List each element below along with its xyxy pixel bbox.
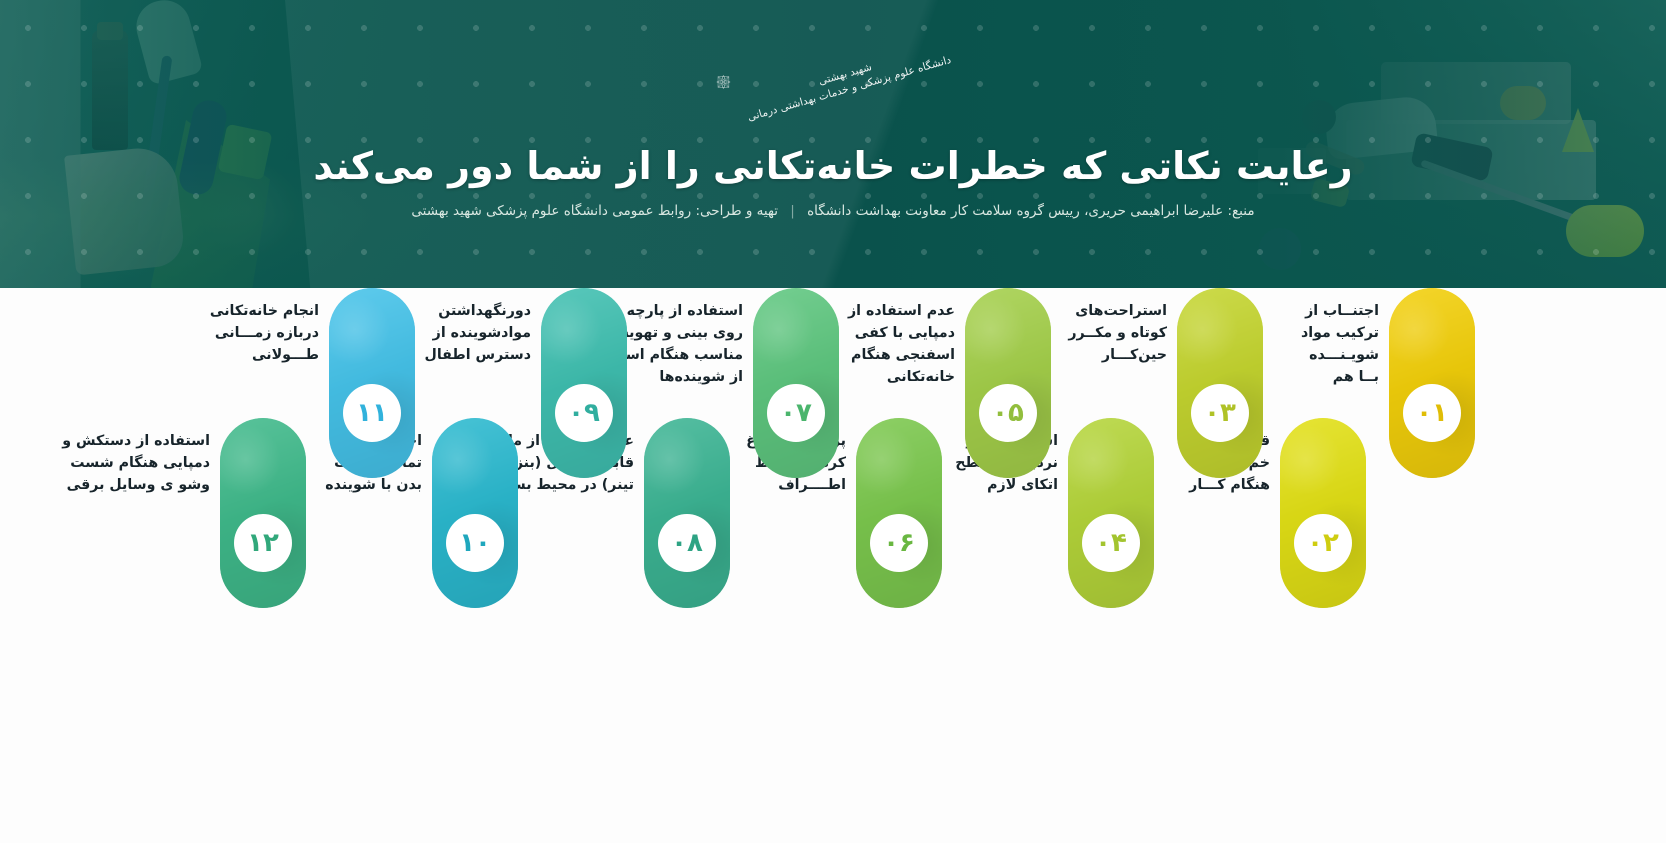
tip-card-pill [644, 418, 730, 608]
tip-card-number: ۰۴ [1095, 528, 1127, 558]
subtitle-source: منبع: علیرضا ابراهیمی حریری، رییس گروه س… [807, 203, 1254, 219]
tip-card-number-badge: ۰۷ [767, 384, 825, 442]
tip-card-color-tint [432, 418, 518, 608]
subtitle-credits: منبع: علیرضا ابراهیمی حریری، رییس گروه س… [0, 203, 1666, 219]
tip-card-number-badge: ۰۴ [1082, 514, 1140, 572]
tip-card-color-tint [220, 418, 306, 608]
tip-card-pill [1280, 418, 1366, 608]
page-title: رعایت نکاتی که خطرات خانه‌تکانی را از شم… [0, 144, 1666, 188]
tip-card-number-badge: ۰۸ [658, 514, 716, 572]
tip-card-color-tint [1389, 288, 1475, 478]
tip-card-color-tint [965, 288, 1051, 478]
tip-card-pill [1068, 418, 1154, 608]
tip-card-pill [856, 418, 942, 608]
tip-card-pill [220, 418, 306, 608]
tip-card-color-tint [644, 418, 730, 608]
tip-card-number: ۱۲ [247, 528, 279, 558]
tip-card-pill [541, 288, 627, 478]
university-emblem-icon [713, 34, 734, 130]
tip-card-color-tint [1177, 288, 1263, 478]
tip-card-number: ۰۳ [1204, 398, 1236, 428]
logo-caption: شهید بهشتی دانشگاه علوم پزشکی و خدمات به… [742, 38, 953, 125]
tip-card-color-tint [329, 288, 415, 478]
tip-card-number: ۱۰ [459, 528, 491, 558]
tip-card-number-badge: ۰۹ [555, 384, 613, 442]
tip-card-number: ۰۶ [883, 528, 915, 558]
tip-card-pill [1177, 288, 1263, 478]
university-logo: شهید بهشتی دانشگاه علوم پزشکی و خدمات به… [713, 26, 953, 138]
tip-card-text: انجام خانه‌تکانی دربازه زمـــانی طـــولا… [159, 300, 319, 366]
tip-card-pill [965, 288, 1051, 478]
tip-card-pill [432, 418, 518, 608]
tip-card-number: ۰۲ [1307, 528, 1339, 558]
tip-card-color-tint [541, 288, 627, 478]
tip-card-pill [1389, 288, 1475, 478]
subtitle-separator: | [790, 203, 795, 219]
subtitle-credit: تهیه و طراحی: روابط عمومی دانشگاه علوم پ… [411, 203, 778, 219]
tip-card-number-badge: ۰۳ [1191, 384, 1249, 442]
tips-board: ۰۱اجتنــاب از ترکیب مواد شویـنـــده بــا… [0, 288, 1666, 843]
tip-card-number: ۰۷ [780, 398, 812, 428]
tip-card-number-badge: ۱۲ [234, 514, 292, 572]
tip-card-number: ۰۵ [992, 398, 1024, 428]
tip-card-pill [753, 288, 839, 478]
tip-card-number: ۰۸ [671, 528, 703, 558]
tip-card-number-badge: ۰۶ [870, 514, 928, 572]
tip-card-number-badge: ۰۵ [979, 384, 1037, 442]
tip-card-pill [329, 288, 415, 478]
tip-card-color-tint [1280, 418, 1366, 608]
tip-card-number: ۱۱ [356, 398, 388, 428]
tip-card-number-badge: ۰۱ [1403, 384, 1461, 442]
tip-card-color-tint [753, 288, 839, 478]
infographic-canvas: شهید بهشتی دانشگاه علوم پزشکی و خدمات به… [0, 0, 1666, 843]
tip-card-text: استفاده از دستکش و دمپایی هنگام شست وشو … [50, 430, 210, 496]
header-banner: شهید بهشتی دانشگاه علوم پزشکی و خدمات به… [0, 0, 1666, 288]
tip-card-number: ۰۱ [1416, 398, 1448, 428]
tip-card-color-tint [856, 418, 942, 608]
tip-card-number-badge: ۱۱ [343, 384, 401, 442]
tip-card-number-badge: ۱۰ [446, 514, 504, 572]
tip-card-number-badge: ۰۲ [1294, 514, 1352, 572]
tip-card-number: ۰۹ [568, 398, 600, 428]
tip-card-color-tint [1068, 418, 1154, 608]
